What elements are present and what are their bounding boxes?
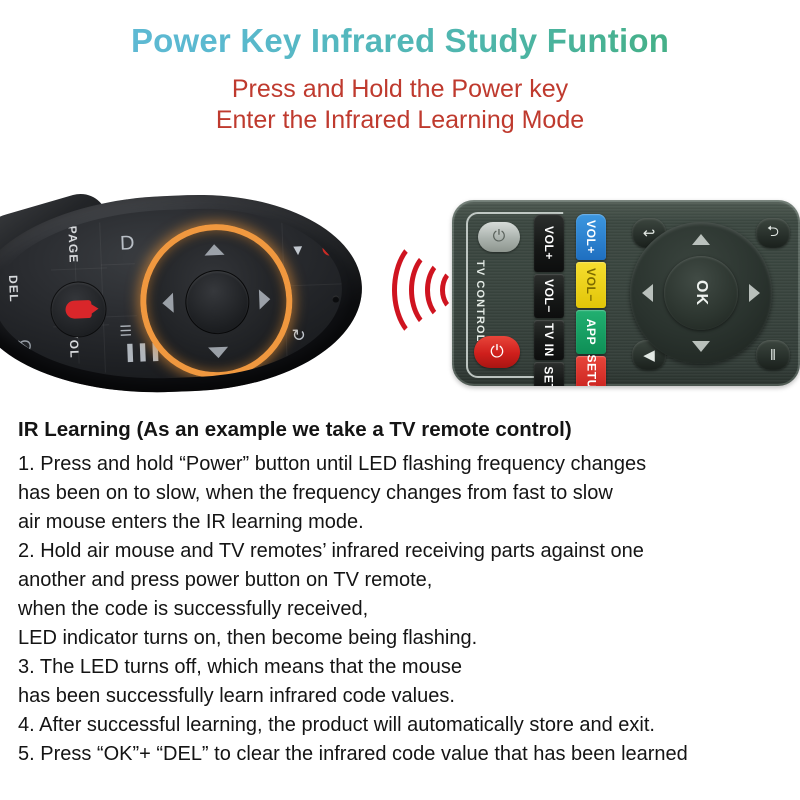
setup-button[interactable]: SETUP (576, 356, 606, 386)
list-icon[interactable]: ☰ (119, 323, 133, 338)
vol-up-label: VOL+ (584, 220, 598, 254)
instruction-line: has been successfully learn infrared cod… (18, 682, 786, 711)
led-indicator (334, 345, 341, 352)
subtitle-line-2: Enter the Infrared Learning Mode (0, 105, 800, 137)
keypad-seam (103, 315, 137, 317)
source-button[interactable]: ⮌ (756, 218, 790, 248)
air-mouse-ok-button[interactable] (184, 269, 250, 335)
instruction-line: 5. Press “OK”+ “DEL” to clear the infrar… (18, 740, 786, 769)
instruction-line: 1. Press and hold “Power” button until L… (18, 450, 786, 479)
instruction-line: when the code is successfully received, (18, 595, 786, 624)
tv-power-red-button[interactable]: ⏻ (474, 336, 520, 368)
instructions-heading: IR Learning (As an example we take a TV … (18, 420, 786, 441)
keypad-seam (101, 263, 135, 265)
header-block: Power Key Infrared Study Funtion Press a… (0, 0, 800, 137)
instructions-list: 1. Press and hold “Power” button until L… (18, 450, 786, 770)
tv-ok-button[interactable]: OK (664, 256, 738, 330)
air-mouse-dpad-up[interactable] (204, 244, 224, 256)
product-illustration: DEL PAGE VOL Ø D ☰ ▐▐▐ ▼ ↻ ⏻ (0, 178, 800, 413)
vol-down-label: VOL− (584, 268, 598, 302)
air-mouse-cursor-icon (65, 300, 92, 319)
tv-dpad[interactable]: OK (630, 222, 772, 364)
tv-dpad-left[interactable] (642, 284, 653, 302)
setup-label: SETUP (584, 354, 598, 386)
air-mouse-dpad-right[interactable] (259, 289, 271, 309)
air-mouse-remote: DEL PAGE VOL Ø D ☰ ▐▐▐ ▼ ↻ ⏻ (0, 189, 366, 400)
menu-button[interactable]: ‖ (756, 340, 790, 370)
tv-vol-up-label: VOL+ (542, 226, 556, 260)
instruction-line: has been on to slow, when the frequency … (18, 479, 786, 508)
instruction-line: 4. After successful learning, the produc… (18, 711, 786, 740)
instruction-line: air mouse enters the IR learning mode. (18, 508, 786, 537)
air-mouse-del-label[interactable]: DEL (6, 275, 21, 303)
keypad-seam (51, 267, 107, 270)
air-mouse-dpad[interactable] (137, 221, 295, 381)
refresh-icon[interactable]: ↻ (291, 327, 306, 345)
tv-dpad-right[interactable] (749, 284, 760, 302)
air-mouse-cursor-button[interactable] (49, 280, 107, 338)
instructions-block: IR Learning (As an example we take a TV … (18, 420, 786, 770)
tv-dpad-up[interactable] (692, 234, 710, 245)
air-mouse-page-label[interactable]: PAGE (65, 225, 80, 263)
tv-control-label: TV CONTROL (474, 260, 486, 343)
page-title: Power Key Infrared Study Funtion (0, 22, 800, 60)
tv-remote-control: TV CONTROL ⏻ ⏻ VOL+ VOL− TV IN SET VOL+ … (452, 200, 800, 386)
tv-dpad-down[interactable] (692, 341, 710, 352)
vol-down-button[interactable]: VOL− (576, 262, 606, 308)
led-indicator (332, 295, 339, 302)
tv-input-label: TV IN (542, 323, 556, 357)
tv-remote-body: TV CONTROL ⏻ ⏻ VOL+ VOL− TV IN SET VOL+ … (452, 200, 800, 386)
tv-set-label: SET (542, 366, 556, 386)
tv-vol-up-button[interactable]: VOL+ (534, 214, 564, 272)
instruction-line: LED indicator turns on, then become bein… (18, 624, 786, 653)
app-button[interactable]: APP (576, 310, 606, 354)
vol-up-button[interactable]: VOL+ (576, 214, 606, 260)
d-button-icon[interactable]: D (120, 233, 135, 254)
air-mouse-dpad-down[interactable] (208, 347, 228, 359)
tv-ok-label: OK (692, 280, 710, 306)
home-icon[interactable]: ▼ (290, 243, 305, 259)
mute-icon[interactable]: Ø (16, 339, 33, 353)
tv-vol-down-button[interactable]: VOL− (534, 274, 564, 318)
air-mouse-dpad-left[interactable] (162, 293, 174, 313)
tv-set-button[interactable]: SET (534, 362, 564, 386)
tv-input-button[interactable]: TV IN (534, 320, 564, 360)
instruction-line: 2. Hold air mouse and TV remotes’ infrar… (18, 537, 786, 566)
keypad-seam (284, 283, 342, 286)
tv-vol-down-label: VOL− (542, 279, 556, 313)
subtitle-line-1: Press and Hold the Power key (0, 74, 800, 106)
app-label: APP (584, 319, 598, 345)
tv-power-grey-button[interactable]: ⏻ (478, 222, 520, 252)
air-mouse-power-button[interactable]: ⏻ (322, 239, 338, 259)
instruction-line: another and press power button on TV rem… (18, 566, 786, 595)
instruction-line: 3. The LED turns off, which means that t… (18, 653, 786, 682)
